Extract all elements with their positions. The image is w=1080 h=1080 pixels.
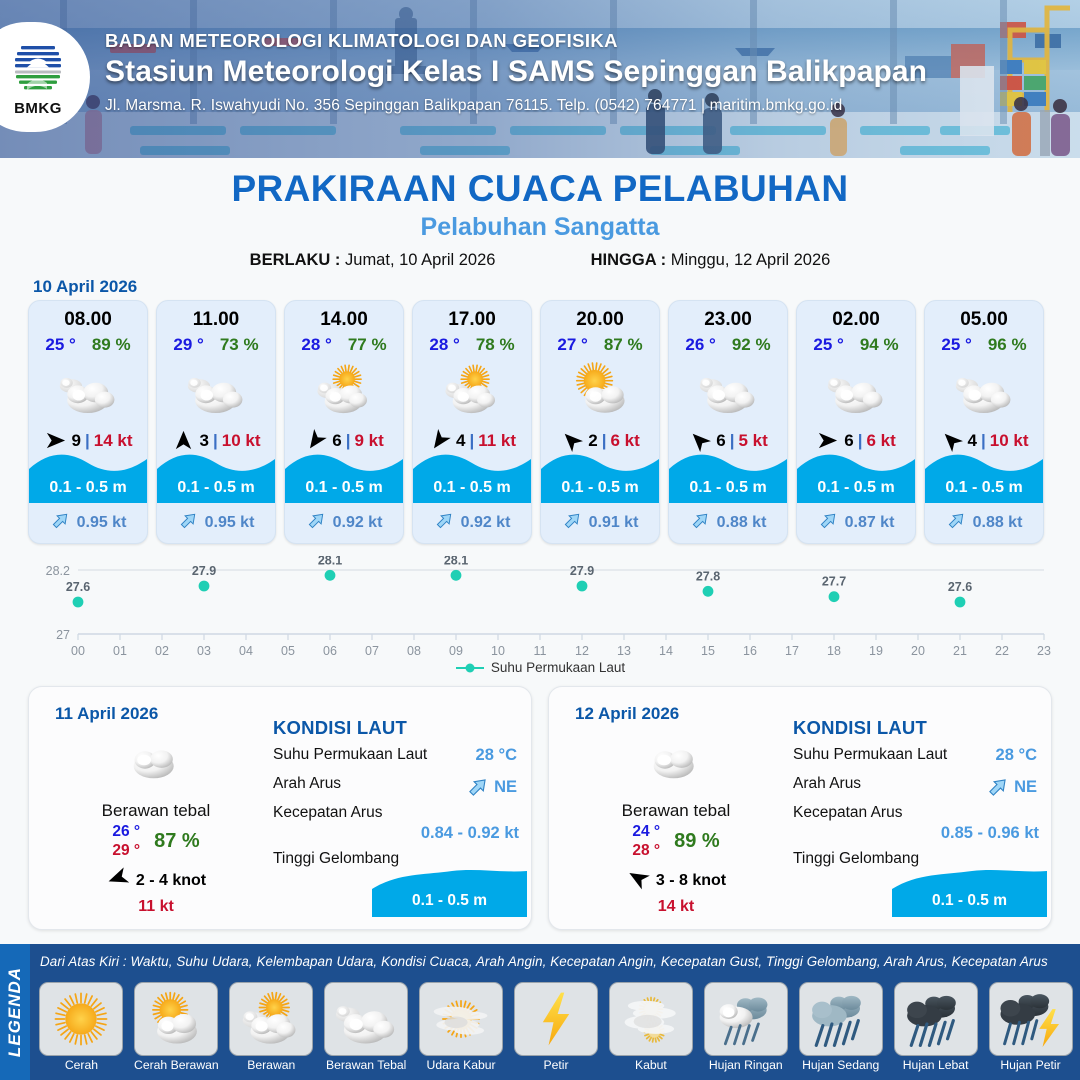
svg-text:27.7: 27.7	[822, 575, 846, 589]
hourly-card: 20.00 27 ° 87 %	[540, 300, 660, 544]
daily-forecast-panel: 11 April 2026 B	[28, 686, 532, 930]
card-temperature: 29 °	[173, 335, 203, 355]
partly-cloudy-icon	[285, 359, 403, 421]
svg-text:06: 06	[323, 644, 337, 658]
current-arrow-icon	[306, 510, 327, 536]
svg-text:20: 20	[911, 644, 925, 658]
sea-row-value: 0.84 - 0.92 kt	[273, 824, 519, 843]
current-arrow-icon	[818, 510, 839, 536]
current-direction-arrow	[818, 510, 839, 531]
svg-text:22: 22	[995, 644, 1009, 658]
svg-text:10: 10	[491, 644, 505, 658]
wind-direction-icon	[106, 866, 130, 895]
card-time: 17.00	[413, 309, 531, 331]
current-speed: 0.95 kt	[205, 514, 255, 532]
valid-to-label: HINGGA :	[591, 251, 666, 269]
partly-cloudy-icon	[229, 982, 313, 1056]
wave-height: 0.1 - 0.5 m	[925, 479, 1043, 497]
sea-row: Arah Arus NE	[273, 775, 519, 797]
legend-item-label: Hujan Lebat	[890, 1059, 981, 1072]
sea-row-key: Tinggi Gelombang	[273, 850, 399, 867]
legend-item: Hujan Ringan	[700, 982, 791, 1072]
daily-forecast-panel: 12 April 2026 B	[548, 686, 1052, 930]
legend-item: Udara Kabur	[416, 982, 507, 1072]
station-address: Jl. Marsma. R. Iswahyudi No. 356 Sepingg…	[105, 97, 1065, 115]
current-arrow-icon	[946, 510, 967, 536]
current-arrow-icon	[178, 510, 199, 536]
hourly-card: 17.00 28 ° 78 %	[412, 300, 532, 544]
panel-wind-range: 3 - 8 knot	[656, 872, 726, 890]
cloudy-icon	[797, 359, 915, 421]
wave-height: 0.1 - 0.5 m	[669, 479, 787, 497]
panel-date: 12 April 2026	[575, 704, 679, 724]
svg-text:27: 27	[56, 628, 70, 642]
svg-text:15: 15	[701, 644, 715, 658]
sunny-cloud-icon	[541, 359, 659, 421]
panel-wave-height: 0.1 - 0.5 m	[892, 892, 1047, 910]
current-speed: 0.88 kt	[973, 514, 1023, 532]
legend-item-label: Berawan	[226, 1059, 317, 1072]
card-humidity: 73 %	[220, 335, 259, 355]
current-direction-arrow	[986, 775, 1010, 799]
cloudy-icon	[29, 359, 147, 421]
current-speed: 0.92 kt	[333, 514, 383, 532]
sea-row-key: Arah Arus	[793, 775, 861, 792]
svg-text:27.8: 27.8	[696, 569, 720, 583]
current-direction-arrow	[178, 510, 199, 531]
sea-row-key: Kecepatan Arus	[273, 804, 382, 821]
sst-chart-plot: 28.2270001020304050607080910111213141516…	[28, 556, 1052, 660]
current-direction-label: NE	[494, 778, 517, 797]
valid-from-value: Jumat, 10 April 2026	[345, 251, 495, 269]
card-temperature: 25 °	[813, 335, 843, 355]
panel-temp-min: 24 °	[632, 823, 660, 841]
panel-gust: 14 kt	[567, 898, 785, 916]
valid-to-value: Minggu, 12 April 2026	[671, 251, 831, 269]
hourly-card: 14.00 28 ° 77 %	[284, 300, 404, 544]
panel-wave-height: 0.1 - 0.5 m	[372, 892, 527, 910]
card-temperature: 26 °	[685, 335, 715, 355]
hourly-card: 11.00 29 ° 73 %	[156, 300, 276, 544]
validity-row: BERLAKU : Jumat, 10 April 2026 HINGGA : …	[0, 251, 1080, 270]
page-subtitle: Pelabuhan Sangatta	[0, 213, 1080, 242]
legend-item-label: Cerah Berawan	[131, 1059, 222, 1072]
panel-temp-max: 29 °	[112, 842, 140, 860]
current-direction-arrow	[306, 510, 327, 531]
panel-wind-range: 2 - 4 knot	[136, 872, 206, 890]
legend-side-label: LEGENDA	[5, 967, 25, 1057]
card-time: 14.00	[285, 309, 403, 331]
sea-conditions-title: KONDISI LAUT	[273, 717, 519, 739]
current-speed: 0.91 kt	[589, 514, 639, 532]
svg-text:11: 11	[534, 644, 547, 658]
svg-text:27.6: 27.6	[66, 580, 90, 594]
legend-item-label: Hujan Ringan	[700, 1059, 791, 1072]
current-arrow-icon	[434, 510, 455, 536]
current-speed: 0.92 kt	[461, 514, 511, 532]
card-humidity: 92 %	[732, 335, 771, 355]
current-direction-arrow	[562, 510, 583, 531]
card-time: 23.00	[669, 309, 787, 331]
legend-item: Berawan	[226, 982, 317, 1072]
legend-item: Berawan Tebal	[321, 982, 412, 1072]
sea-row-key: Arah Arus	[273, 775, 341, 792]
light-rain-icon	[704, 982, 788, 1056]
panel-condition: Berawan tebal	[567, 801, 785, 821]
svg-text:28.1: 28.1	[318, 556, 342, 567]
legend-item: Cerah	[36, 982, 127, 1072]
svg-text:28.2: 28.2	[46, 564, 70, 578]
current-speed: 0.95 kt	[77, 514, 127, 532]
wind-direction-icon	[626, 866, 650, 895]
legend-item-label: Cerah	[36, 1059, 127, 1072]
hourly-forecast-row: 08.00 25 ° 89 %	[28, 300, 1052, 544]
current-direction-arrow	[434, 510, 455, 531]
svg-text:18: 18	[827, 644, 841, 658]
sea-row-value: NE	[466, 775, 517, 799]
panel-date: 11 April 2026	[55, 704, 158, 724]
bmkg-logo-text: BMKG	[14, 100, 62, 117]
svg-text:27.9: 27.9	[192, 564, 216, 578]
sea-row-value: 28 °C	[476, 746, 517, 765]
sun-icon	[39, 982, 123, 1056]
panel-temp-min: 26 °	[112, 823, 140, 841]
card-time: 08.00	[29, 309, 147, 331]
hourly-card: 23.00 26 ° 92 %	[668, 300, 788, 544]
card-temperature: 25 °	[941, 335, 971, 355]
wind-direction-arrow	[626, 866, 650, 890]
daily-forecast-panels: 11 April 2026 B	[28, 686, 1052, 930]
card-humidity: 96 %	[988, 335, 1027, 355]
sea-row-key: Suhu Permukaan Laut	[273, 746, 427, 763]
sea-row-value: NE	[986, 775, 1037, 799]
current-speed: 0.87 kt	[845, 514, 895, 532]
svg-text:00: 00	[71, 644, 85, 658]
wave-height: 0.1 - 0.5 m	[285, 479, 403, 497]
legend-note: Dari Atas Kiri : Waktu, Suhu Udara, Kele…	[40, 954, 1075, 969]
legend-item: Hujan Lebat	[890, 982, 981, 1072]
wave-graphic: 0.1 - 0.5 m	[372, 869, 527, 917]
panel-humidity: 89 %	[674, 830, 720, 853]
overcast-icon	[47, 731, 265, 789]
legend-icon-row: Cerah	[36, 982, 1076, 1072]
svg-text:27.6: 27.6	[948, 580, 972, 594]
header-banner: BMKG BADAN METEOROLOGI KLIMATOLOGI DAN G…	[0, 0, 1080, 158]
svg-text:27.9: 27.9	[570, 564, 594, 578]
legend-item-label: Udara Kabur	[416, 1059, 507, 1072]
svg-text:05: 05	[281, 644, 295, 658]
svg-text:03: 03	[197, 644, 211, 658]
cloudy-icon	[324, 982, 408, 1056]
legend-item-label: Kabut	[605, 1059, 696, 1072]
hourly-card: 02.00 25 ° 94 %	[796, 300, 916, 544]
sea-conditions-title: KONDISI LAUT	[793, 717, 1039, 739]
svg-text:07: 07	[365, 644, 379, 658]
current-arrow-icon	[50, 510, 71, 536]
card-humidity: 94 %	[860, 335, 899, 355]
svg-text:09: 09	[449, 644, 463, 658]
legend-footer: LEGENDA Dari Atas Kiri : Waktu, Suhu Uda…	[0, 944, 1080, 1080]
legend-item-label: Hujan Sedang	[795, 1059, 886, 1072]
legend-item-label: Berawan Tebal	[321, 1059, 412, 1072]
svg-text:19: 19	[869, 644, 883, 658]
svg-text:28.1: 28.1	[444, 556, 468, 567]
panel-humidity: 87 %	[154, 830, 200, 853]
legend-item: Cerah Berawan	[131, 982, 222, 1072]
haze-icon	[419, 982, 503, 1056]
card-temperature: 25 °	[45, 335, 75, 355]
svg-text:02: 02	[155, 644, 169, 658]
svg-text:04: 04	[239, 644, 253, 658]
card-humidity: 77 %	[348, 335, 387, 355]
svg-text:14: 14	[659, 644, 673, 658]
panel-condition: Berawan tebal	[47, 801, 265, 821]
svg-text:23: 23	[1037, 644, 1051, 658]
card-time: 02.00	[797, 309, 915, 331]
fog-icon	[609, 982, 693, 1056]
moderate-rain-icon	[799, 982, 883, 1056]
card-humidity: 89 %	[92, 335, 131, 355]
cloudy-icon	[157, 359, 275, 421]
card-time: 20.00	[541, 309, 659, 331]
legend-item: Hujan Petir	[985, 982, 1076, 1072]
partly-cloudy-icon	[413, 359, 531, 421]
hourly-date-label: 10 April 2026	[33, 277, 137, 297]
hourly-card: 05.00 25 ° 96 %	[924, 300, 1044, 544]
current-arrow-icon	[562, 510, 583, 536]
sea-row-key: Kecepatan Arus	[793, 804, 902, 821]
legend-item: Hujan Sedang	[795, 982, 886, 1072]
panel-temp-max: 28 °	[632, 842, 660, 860]
page-title-block: PRAKIRAAN CUACA PELABUHAN Pelabuhan Sang…	[0, 168, 1080, 270]
sea-row: Arah Arus NE	[793, 775, 1039, 797]
bmkg-logo-icon	[7, 37, 69, 99]
sst-chart: 28.2270001020304050607080910111213141516…	[28, 556, 1052, 686]
panel-gust: 11 kt	[47, 898, 265, 916]
card-time: 05.00	[925, 309, 1043, 331]
legend-item: Petir	[511, 982, 602, 1072]
legend-item-label: Petir	[511, 1059, 602, 1072]
valid-from-label: BERLAKU :	[250, 251, 341, 269]
thunderstorm-icon	[989, 982, 1073, 1056]
overcast-icon	[567, 731, 785, 789]
card-humidity: 87 %	[604, 335, 643, 355]
sea-row: Kecepatan Arus 0.84 - 0.92 kt	[273, 804, 519, 843]
station-name: Stasiun Meteorologi Kelas I SAMS Sepingg…	[105, 55, 1065, 89]
lightning-icon	[514, 982, 598, 1056]
wave-height: 0.1 - 0.5 m	[29, 479, 147, 497]
svg-text:16: 16	[743, 644, 757, 658]
sea-row: Suhu Permukaan Laut 28 °C	[793, 746, 1039, 768]
sea-row: Suhu Permukaan Laut 28 °C	[273, 746, 519, 768]
legend-item: Kabut	[605, 982, 696, 1072]
wave-graphic: 0.1 - 0.5 m	[892, 869, 1047, 917]
legend-side-tab: LEGENDA	[0, 944, 30, 1080]
wave-height: 0.1 - 0.5 m	[541, 479, 659, 497]
card-temperature: 28 °	[429, 335, 459, 355]
sea-row: Kecepatan Arus 0.85 - 0.96 kt	[793, 804, 1039, 843]
svg-text:08: 08	[407, 644, 421, 658]
wind-direction-arrow	[106, 866, 130, 890]
svg-text:21: 21	[953, 644, 967, 658]
heavy-rain-icon	[894, 982, 978, 1056]
card-humidity: 78 %	[476, 335, 515, 355]
current-direction-arrow	[466, 775, 490, 799]
cloudy-icon	[925, 359, 1043, 421]
sea-row-value: 0.85 - 0.96 kt	[793, 824, 1039, 843]
wave-height: 0.1 - 0.5 m	[157, 479, 275, 497]
current-arrow-icon	[690, 510, 711, 536]
page-title: PRAKIRAAN CUACA PELABUHAN	[0, 168, 1080, 210]
current-direction-arrow	[946, 510, 967, 531]
sea-row-key: Tinggi Gelombang	[793, 850, 919, 867]
current-direction-label: NE	[1014, 778, 1037, 797]
sst-legend-label: Suhu Permukaan Laut	[491, 660, 625, 675]
sun-cloud-icon	[134, 982, 218, 1056]
sst-chart-legend: Suhu Permukaan Laut	[28, 660, 1052, 675]
wave-height: 0.1 - 0.5 m	[797, 479, 915, 497]
card-temperature: 27 °	[557, 335, 587, 355]
svg-text:17: 17	[785, 644, 799, 658]
svg-text:12: 12	[575, 644, 589, 658]
svg-text:01: 01	[113, 644, 127, 658]
sst-legend-marker	[455, 662, 485, 674]
legend-item-label: Hujan Petir	[985, 1059, 1076, 1072]
card-time: 11.00	[157, 309, 275, 331]
cloudy-icon	[669, 359, 787, 421]
sea-row-key: Suhu Permukaan Laut	[793, 746, 947, 763]
svg-text:13: 13	[617, 644, 631, 658]
current-direction-arrow	[50, 510, 71, 531]
current-direction-arrow	[690, 510, 711, 531]
wave-height: 0.1 - 0.5 m	[413, 479, 531, 497]
hourly-card: 08.00 25 ° 89 %	[28, 300, 148, 544]
current-speed: 0.88 kt	[717, 514, 767, 532]
sea-row-value: 28 °C	[996, 746, 1037, 765]
card-temperature: 28 °	[301, 335, 331, 355]
agency-name: BADAN METEOROLOGI KLIMATOLOGI DAN GEOFIS…	[105, 30, 1065, 52]
